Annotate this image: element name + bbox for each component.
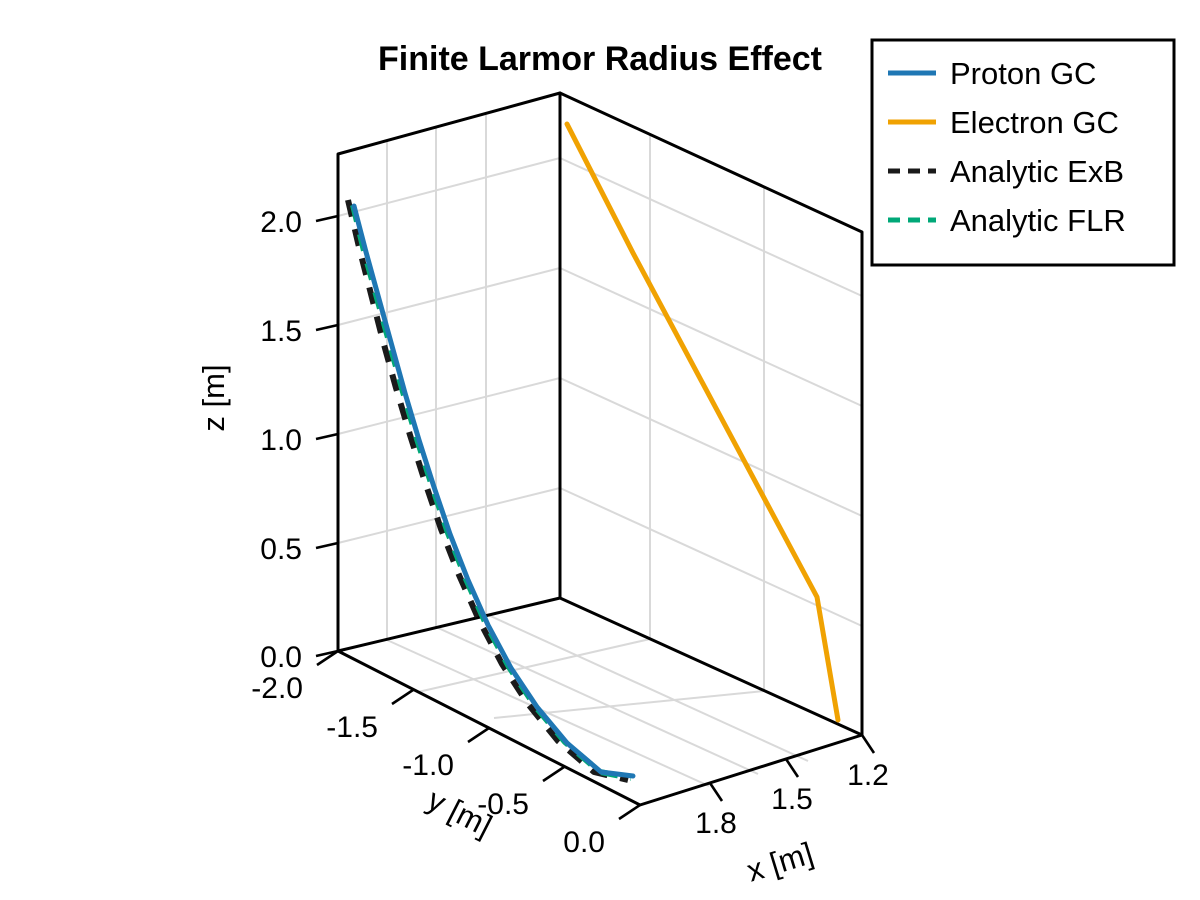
z-tick-label-1: 0.5: [260, 533, 302, 566]
x-tick-label-1: 1.5: [771, 783, 813, 816]
z-tick-label-3: 1.5: [260, 315, 302, 348]
legend-label-analytic-exb: Analytic ExB: [950, 154, 1124, 189]
pane-left-wall: [338, 93, 560, 651]
page-title: Finite Larmor Radius Effect: [378, 40, 822, 78]
legend-label-analytic-flr: Analytic FLR: [950, 203, 1126, 238]
z-tick-label-0: 0.0: [260, 641, 302, 674]
plot-svg: 0.0 0.5 1.0 1.5 2.0 -2.0 -1.5 -1.0 -0.5 …: [0, 0, 1200, 900]
z-axis-title: z [m]: [196, 364, 231, 431]
legend[interactable]: Proton GC Electron GC Analytic ExB Analy…: [872, 40, 1174, 265]
figure-canvas: 0.0 0.5 1.0 1.5 2.0 -2.0 -1.5 -1.0 -0.5 …: [0, 0, 1200, 900]
x-tick-label-0: 1.8: [695, 807, 737, 840]
y-tick-label-4: 0.0: [563, 826, 605, 859]
legend-label-electron-gc: Electron GC: [950, 105, 1119, 140]
x-tick-label-2: 1.2: [847, 759, 889, 792]
y-tick-label-2: -1.0: [402, 749, 454, 782]
legend-label-proton-gc: Proton GC: [950, 56, 1096, 91]
z-tick-label-4: 2.0: [260, 206, 302, 239]
z-tick-label-2: 1.0: [260, 424, 302, 457]
y-tick-label-0: -2.0: [251, 672, 303, 705]
y-tick-label-1: -1.5: [326, 711, 378, 744]
